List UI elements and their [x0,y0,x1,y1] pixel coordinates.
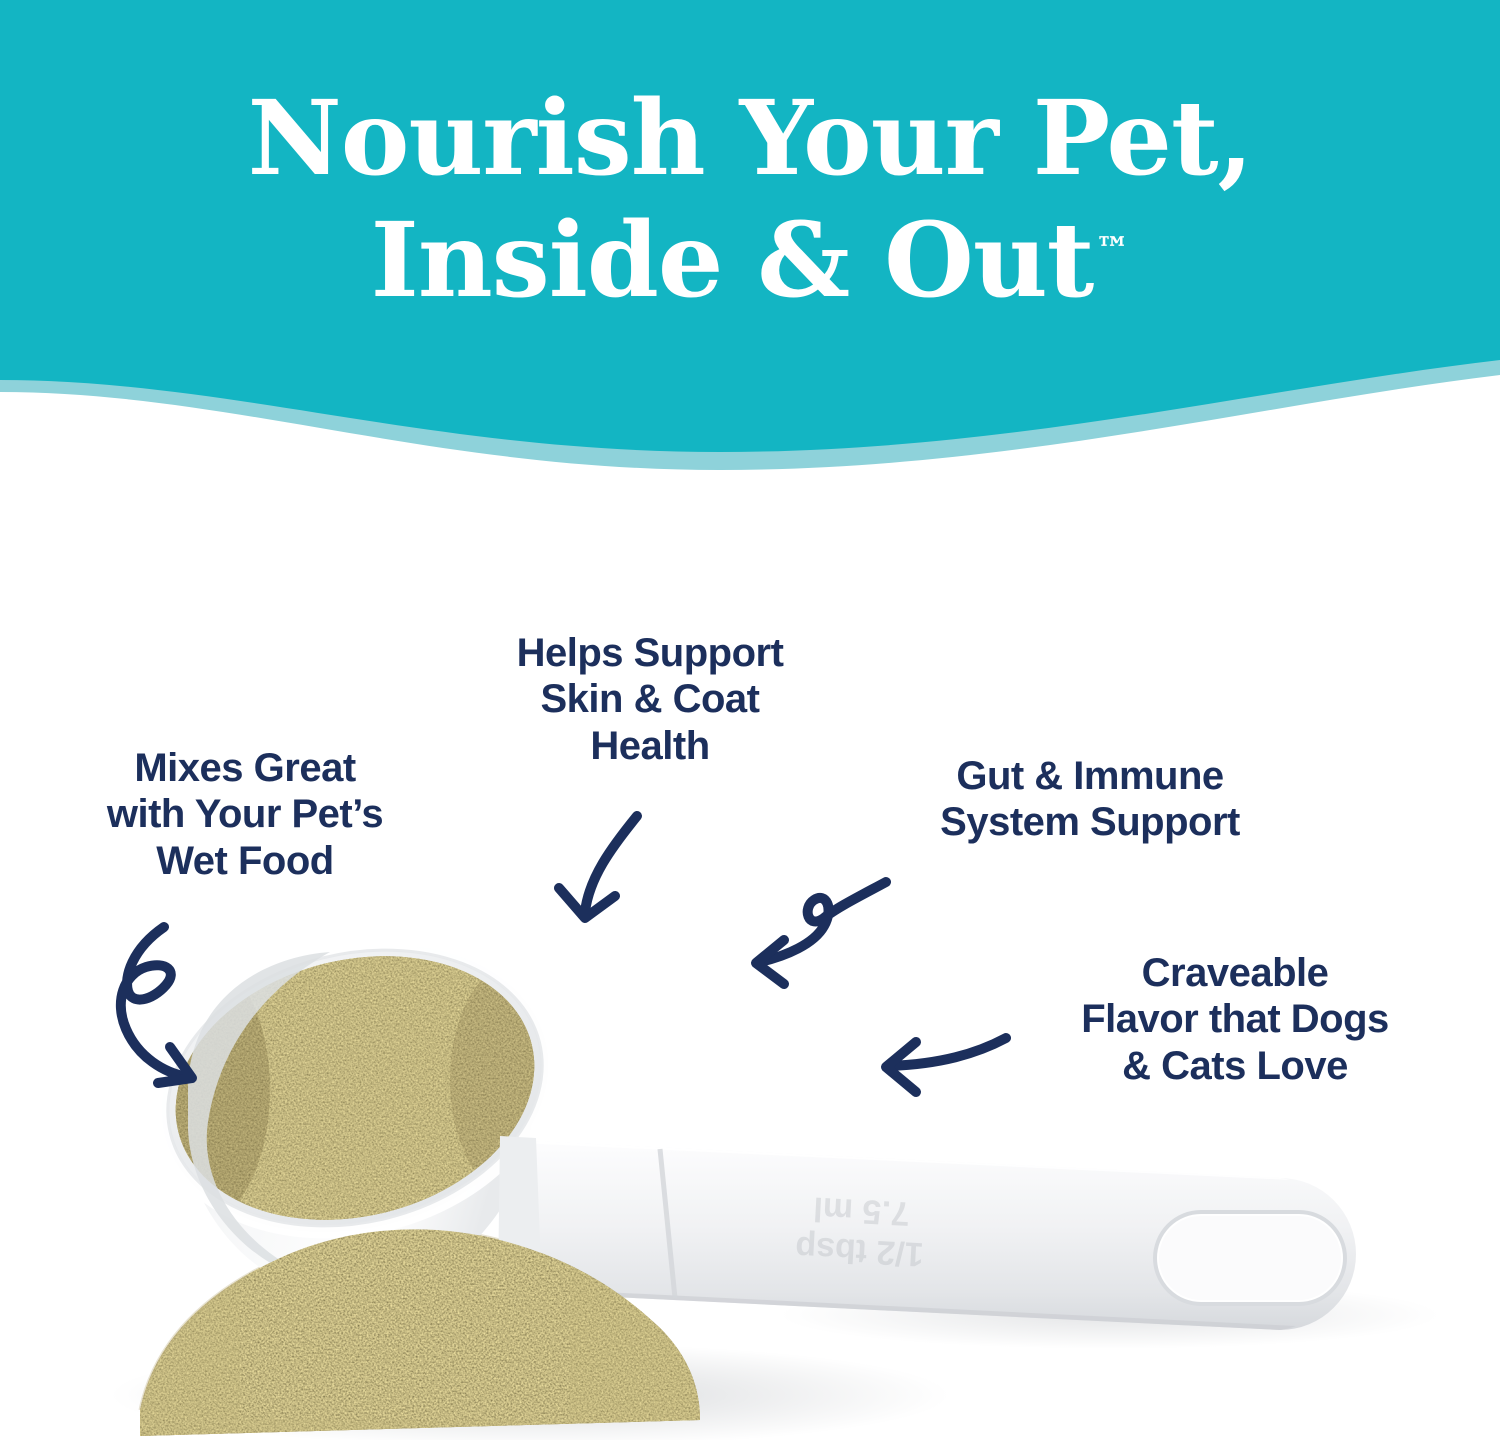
headline-line-2: Inside & Out™ [371,200,1130,322]
headline-line-2-text: Inside & Out [371,200,1094,321]
callout-craveable-flavor: Craveable Flavor that Dogs & Cats Love [1000,950,1470,1089]
trademark-symbol: ™ [1095,230,1129,270]
wave-main-layer [0,0,1500,452]
callout-gut-immune: Gut & Immune System Support [865,753,1315,846]
callout-skin-coat-line-3: Health [440,723,860,769]
curved-arrow-left-icon [870,1020,1020,1110]
headline-line-1: Nourish Your Pet, [248,78,1253,200]
callout-skin-coat-line-1: Helps Support [440,630,860,676]
header-banner: Nourish Your Pet, Inside & Out™ [0,0,1500,500]
callout-mixes-great-line-3: Wet Food [35,838,455,884]
loop-arrow-down-left-icon [740,868,900,998]
wave-light-layer [0,0,1500,470]
callout-skin-coat-line-2: Skin & Coat [440,676,860,722]
callout-skin-coat: Helps Support Skin & Coat Health [440,630,860,769]
callout-craveable-flavor-line-1: Craveable [1000,950,1470,996]
callout-mixes-great: Mixes Great with Your Pet’s Wet Food [35,745,455,884]
callout-gut-immune-line-1: Gut & Immune [865,753,1315,799]
svg-text:7.5 ml: 7.5 ml [812,1190,910,1233]
callout-craveable-flavor-line-2: Flavor that Dogs [1000,996,1470,1042]
callout-mixes-great-line-2: with Your Pet’s [35,791,455,837]
curly-loop-arrow-down-right-icon [88,905,278,1095]
scoop-handle: 1/2 tbsp 7.5 ml [512,1140,1356,1330]
banner-wave-shape [0,0,1500,500]
callout-craveable-flavor-line-3: & Cats Love [1000,1043,1470,1089]
curved-arrow-down-icon [545,800,665,930]
svg-text:1/2 tbsp: 1/2 tbsp [794,1229,924,1274]
banner-headline: Nourish Your Pet, Inside & Out™ [0,0,1500,400]
callout-mixes-great-line-1: Mixes Great [35,745,455,791]
callout-gut-immune-line-2: System Support [865,799,1315,845]
